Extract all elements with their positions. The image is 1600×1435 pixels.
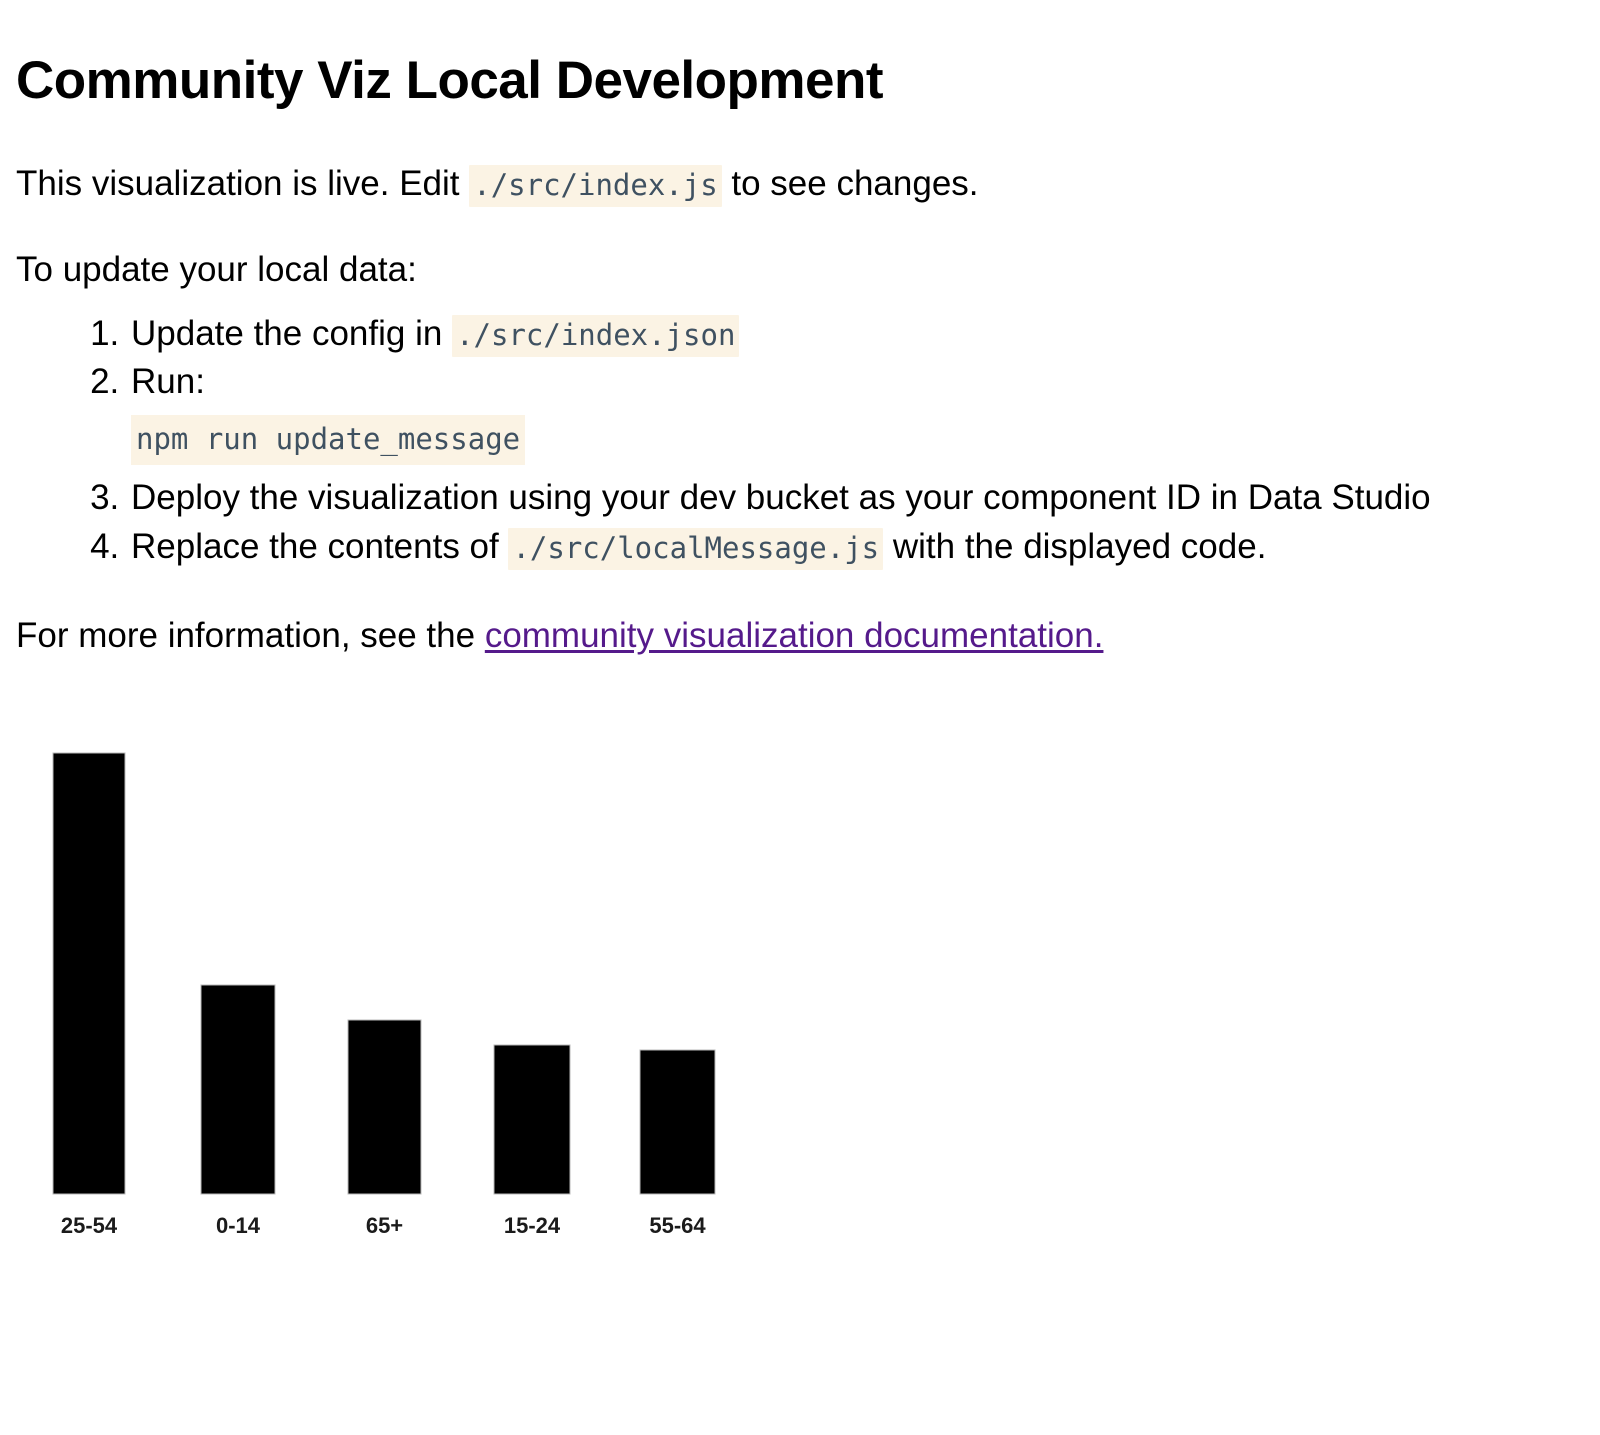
list-item-step-1: Update the config in ./src/index.json [129, 311, 1584, 357]
page-root: Community Viz Local Development This vis… [0, 0, 1600, 1435]
bar-label-0-14: 0-14 [216, 1213, 261, 1238]
steps-list: Update the config in ./src/index.json Ru… [16, 311, 1584, 570]
inline-code-index-json: ./src/index.json [452, 315, 739, 357]
intro-text-before: This visualization is live. Edit [16, 164, 469, 203]
bar-25-54[interactable] [53, 753, 125, 1194]
more-info-text-before: For more information, see the [16, 616, 485, 655]
step-2-text-before: Run: [131, 362, 205, 401]
inline-code-local-message-js: ./src/localMessage.js [508, 528, 883, 570]
step-4-text-before: Replace the contents of [131, 527, 508, 566]
bar-chart-category-labels: 25-540-1465+15-2455-64 [61, 1213, 707, 1238]
list-item-step-2: Run:npm run update_message [129, 359, 1584, 465]
bar-chart-bars [53, 753, 715, 1194]
list-item-step-3: Deploy the visualization using your dev … [129, 475, 1584, 521]
step-3-text: Deploy the visualization using your dev … [131, 478, 1431, 517]
update-heading: To update your local data: [16, 208, 1584, 293]
bar-chart-svg: 25-540-1465+15-2455-64 [16, 700, 776, 1260]
bar-0-14[interactable] [201, 985, 275, 1194]
community-visualization-documentation-link[interactable]: community visualization documentation. [485, 616, 1104, 655]
bar-label-25-54: 25-54 [61, 1213, 118, 1238]
code-block-npm-run: npm run update_message [131, 415, 525, 465]
bar-chart: 25-540-1465+15-2455-64 [16, 700, 776, 1260]
bar-label-65+: 65+ [366, 1213, 403, 1238]
bar-label-15-24: 15-24 [504, 1213, 561, 1238]
bar-15-24[interactable] [494, 1045, 570, 1194]
intro-text-after: to see changes. [722, 164, 979, 203]
step-1-text-before: Update the config in [131, 314, 452, 353]
bar-55-64[interactable] [640, 1050, 715, 1194]
step-4-text-after: with the displayed code. [883, 527, 1266, 566]
page-title: Community Viz Local Development [16, 0, 1584, 110]
inline-code-index-js: ./src/index.js [469, 165, 721, 207]
list-item-step-4: Replace the contents of ./src/localMessa… [129, 524, 1584, 570]
intro-paragraph: This visualization is live. Edit ./src/i… [16, 110, 1584, 207]
more-info-paragraph: For more information, see the community … [16, 572, 1584, 659]
bar-label-55-64: 55-64 [649, 1213, 706, 1238]
bar-65+[interactable] [348, 1020, 421, 1194]
